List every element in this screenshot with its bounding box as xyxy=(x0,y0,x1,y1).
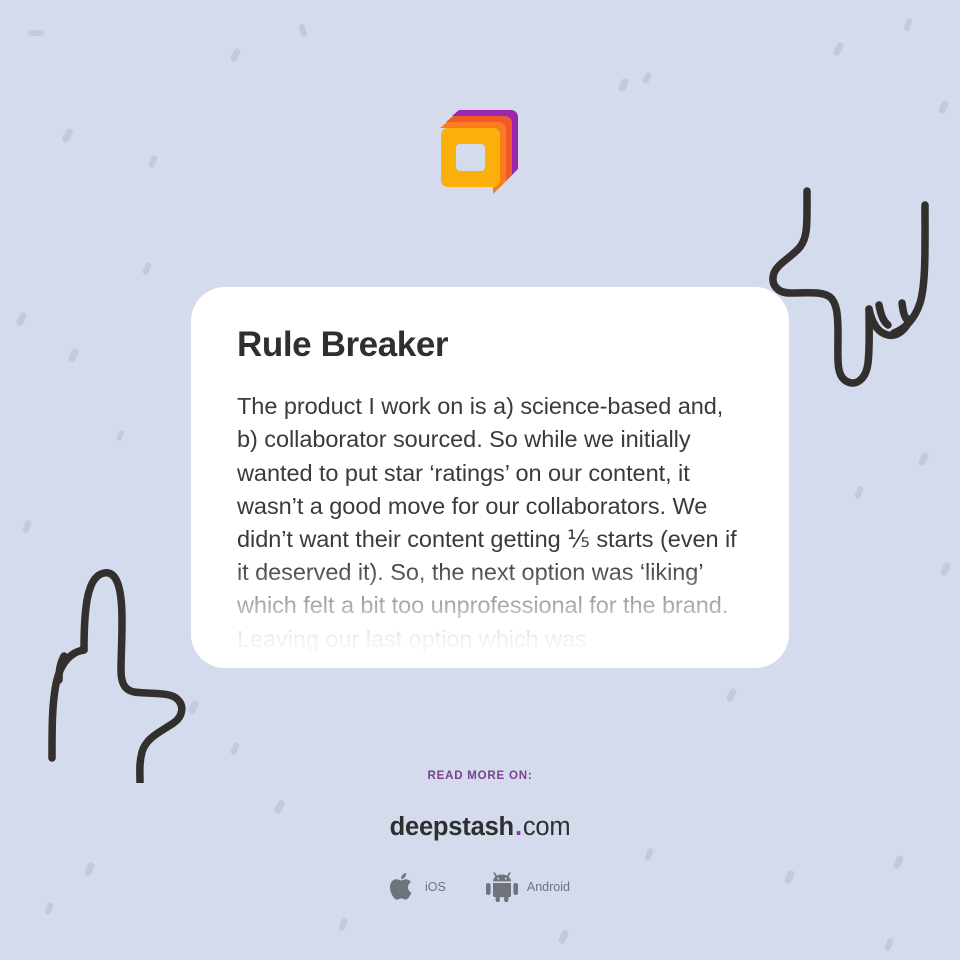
background-speck xyxy=(725,687,737,703)
background-speck xyxy=(854,485,864,499)
background-speck xyxy=(28,30,44,36)
background-speck xyxy=(116,429,124,441)
background-speck xyxy=(67,347,79,363)
pointing-up-hand-illustration xyxy=(22,558,212,783)
deepstash-share-card: Rule Breaker The product I work on is a)… xyxy=(0,0,960,960)
background-speck xyxy=(884,937,894,951)
background-speck xyxy=(22,519,32,533)
android-icon xyxy=(486,872,518,902)
idea-card: Rule Breaker The product I work on is a)… xyxy=(191,287,789,668)
background-speck xyxy=(142,261,152,275)
logo-container xyxy=(0,100,960,200)
brand-tld: com xyxy=(523,813,571,842)
idea-body-text: The product I work on is a) science-base… xyxy=(237,390,743,656)
background-speck xyxy=(939,561,951,577)
background-speck xyxy=(44,901,54,915)
store-badge-android[interactable]: Android xyxy=(486,872,570,902)
background-speck xyxy=(298,23,308,37)
background-speck xyxy=(338,917,348,931)
apple-icon xyxy=(390,871,416,902)
store-label-ios: iOS xyxy=(425,880,446,894)
brand-name: deepstash xyxy=(390,813,514,842)
page-title: Rule Breaker xyxy=(237,325,743,365)
background-speck xyxy=(642,71,652,84)
background-speck xyxy=(617,77,629,93)
idea-card-content: Rule Breaker The product I work on is a)… xyxy=(191,287,789,656)
read-more-label: READ MORE ON: xyxy=(428,770,533,782)
background-speck xyxy=(832,41,845,57)
background-speck xyxy=(903,17,913,31)
brand-wordmark[interactable]: deepstash . com xyxy=(390,813,571,842)
deepstash-logo-icon xyxy=(434,100,526,200)
pointing-down-hand-illustration xyxy=(762,175,952,400)
background-speck xyxy=(187,699,199,715)
background-speck xyxy=(557,929,569,945)
background-speck xyxy=(229,47,241,63)
background-speck xyxy=(15,311,27,327)
store-label-android: Android xyxy=(527,880,570,894)
background-speck xyxy=(230,741,240,755)
store-badge-ios[interactable]: iOS xyxy=(390,871,446,902)
footer: READ MORE ON: deepstash . com iOS xyxy=(0,770,960,902)
store-badges: iOS Android xyxy=(390,871,570,902)
brand-dot: . xyxy=(514,813,523,842)
background-speck xyxy=(917,451,929,467)
